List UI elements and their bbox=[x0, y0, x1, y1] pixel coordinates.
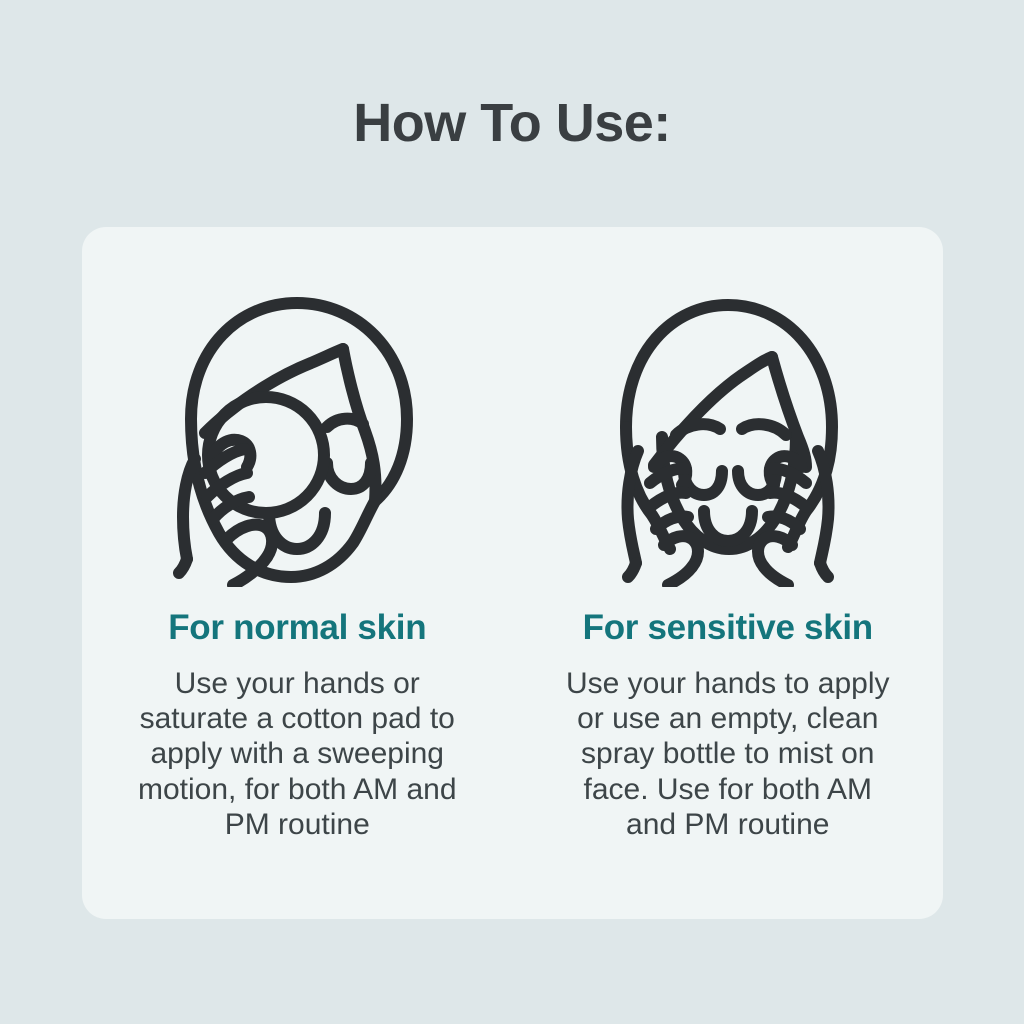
woman-applying-toner-with-cotton-pad-icon bbox=[161, 287, 433, 587]
column-heading-normal-skin: For normal skin bbox=[168, 609, 426, 648]
instruction-columns: For normal skin Use your hands or satura… bbox=[82, 227, 943, 919]
woman-patting-face-with-both-hands-icon bbox=[592, 287, 864, 587]
column-body-normal-skin: Use your hands or saturate a cotton pad … bbox=[122, 666, 472, 843]
column-heading-sensitive-skin: For sensitive skin bbox=[583, 609, 873, 648]
instruction-column-normal-skin: For normal skin Use your hands or satura… bbox=[82, 227, 513, 919]
instruction-column-sensitive-skin: For sensitive skin Use your hands to app… bbox=[513, 227, 944, 919]
page-title: How To Use: bbox=[0, 96, 1024, 150]
column-body-sensitive-skin: Use your hands to apply or use an empty,… bbox=[548, 666, 908, 843]
instructions-card: For normal skin Use your hands or satura… bbox=[82, 227, 943, 919]
